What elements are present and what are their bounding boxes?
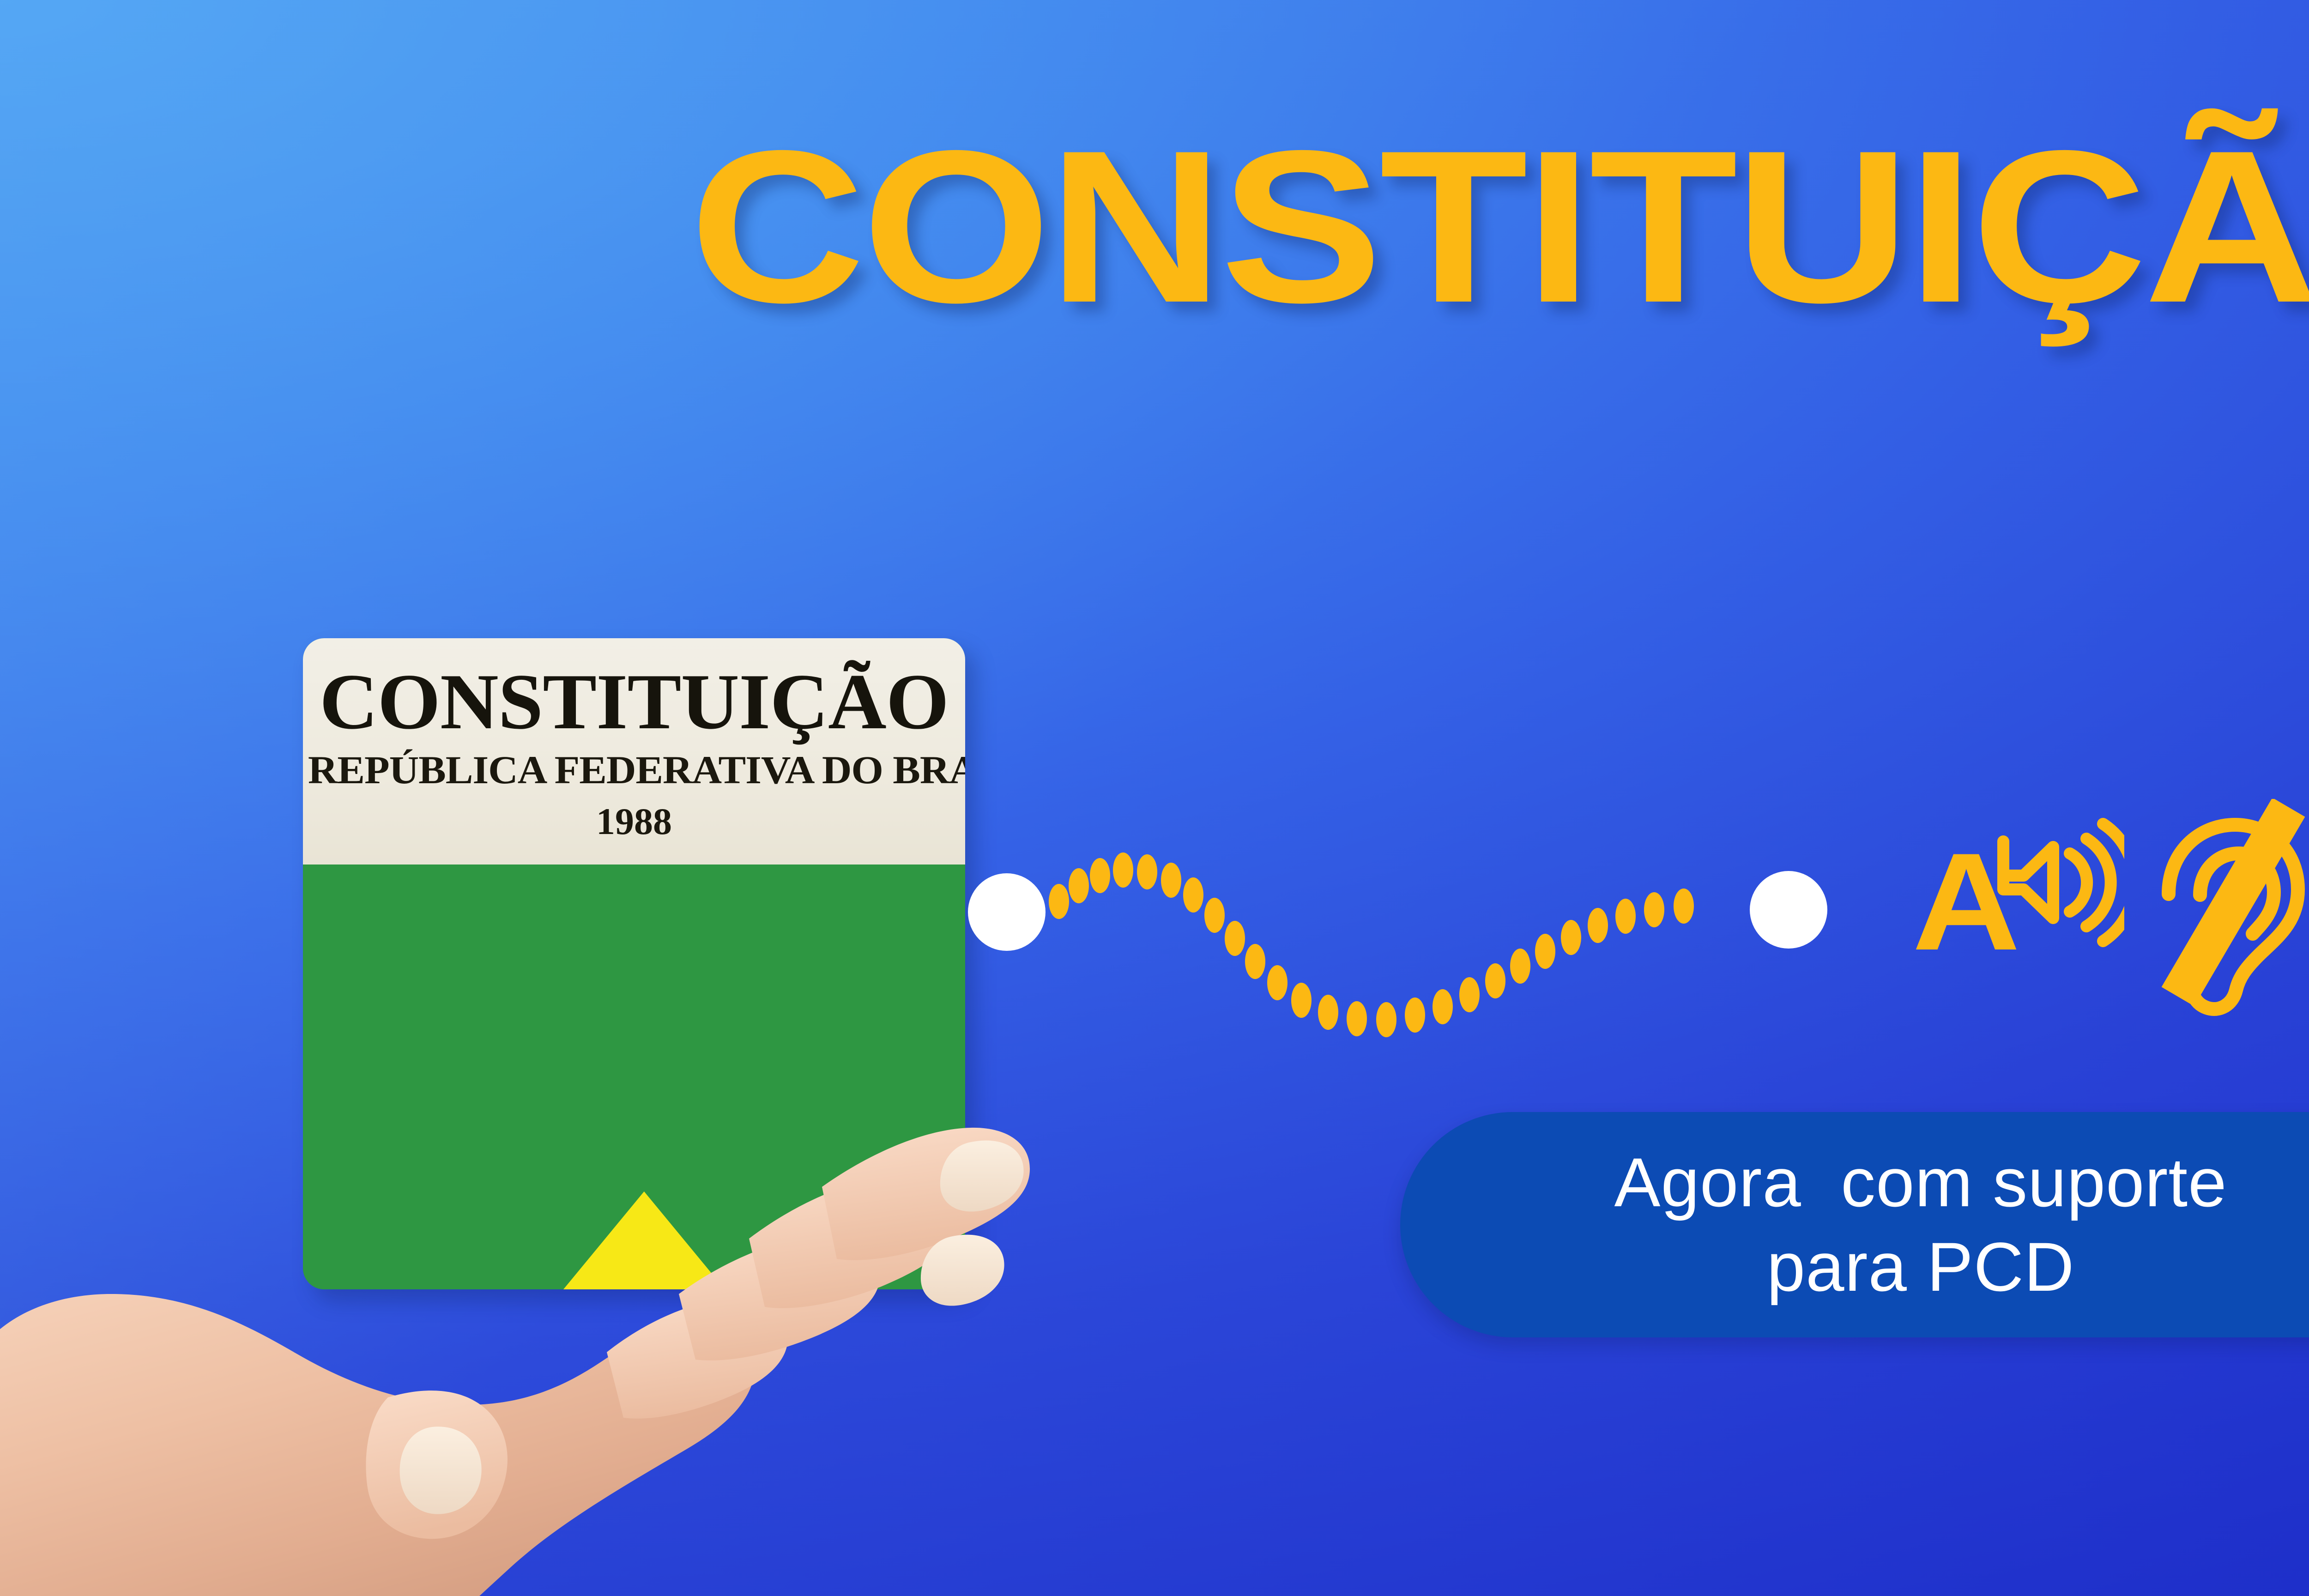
text-to-speech-icon[interactable]: A	[1907, 799, 2124, 1016]
hearing-impaired-ear-icon[interactable]	[2124, 799, 2309, 1016]
dotted-path-connector	[919, 794, 1889, 1053]
accessibility-icon-2[interactable]	[2124, 799, 2309, 1018]
accessibility-icon-1[interactable]: A	[1907, 799, 2124, 1018]
callout-line-2: para PCD	[1767, 1225, 2075, 1309]
book-cover-title: CONSTITUIÇÃO	[314, 662, 954, 742]
open-hand-illustration	[0, 1122, 1201, 1596]
connector-dots	[1049, 852, 1694, 1037]
book-cover-header: CONSTITUIÇÃO REPÚBLICA FEDERATIVA DO BRA…	[303, 638, 965, 864]
page-title: CONSTITUIÇÃO	[0, 118, 2309, 335]
connector-end-dot	[1750, 871, 1827, 949]
connector-start-dot	[968, 873, 1046, 951]
callout-line-1: Agora com suporte	[1614, 1140, 2227, 1225]
banner-root: CONSTITUIÇÃO CONSTITUIÇÃO REPÚBLICA FEDE…	[0, 0, 2309, 1596]
accessibility-icon-row: A	[1907, 799, 2309, 1021]
book-cover-subtitle: REPÚBLICA FEDERATIVA DO BRASIL	[308, 750, 960, 790]
support-callout-pill[interactable]: Agora com suporte para PCD	[1400, 1112, 2309, 1337]
book-cover-year: 1988	[320, 803, 948, 840]
